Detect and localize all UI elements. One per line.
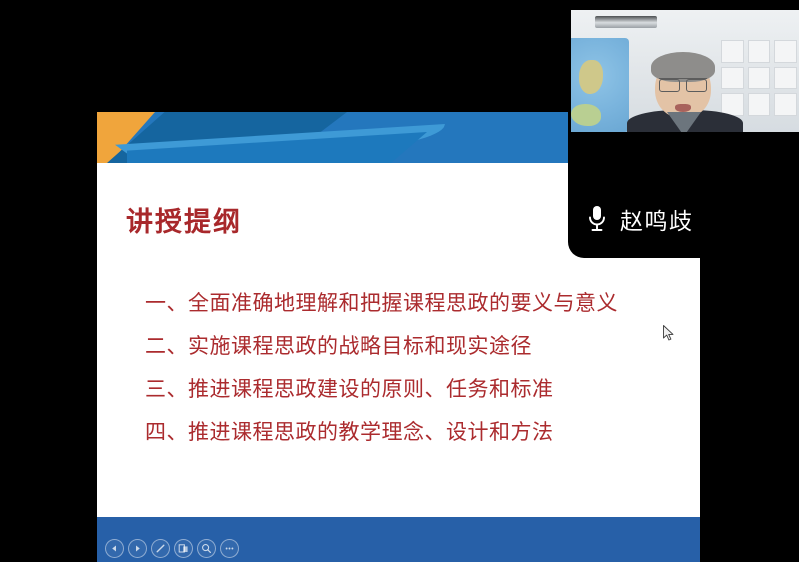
- slide-footer-bar: [97, 517, 700, 562]
- picture-frame: [748, 40, 771, 63]
- outline-item: 二、实施课程思政的战略目标和现实途径: [145, 325, 685, 368]
- person-mouth: [675, 104, 691, 112]
- chevron-left-icon: [110, 544, 119, 553]
- picture-frame: [774, 67, 797, 90]
- pen-icon: [155, 543, 166, 554]
- screen-share-view: 上1896 上 SHANGHAI 讲授提纲 一、全面准确地理解和把握课程思政的要…: [0, 0, 799, 562]
- slides-icon: [178, 543, 189, 554]
- outline-item: 四、推进课程思政的教学理念、设计和方法: [145, 411, 685, 454]
- picture-frame: [748, 93, 771, 116]
- outline-item: 三、推进课程思政建设的原则、任务和标准: [145, 368, 685, 411]
- participant-video-feed: [571, 10, 799, 132]
- picture-frame: [721, 40, 744, 63]
- person-glasses: [659, 78, 707, 90]
- air-conditioner: [595, 16, 657, 28]
- slide-title: 讲授提纲: [126, 200, 242, 239]
- lens-left: [659, 79, 680, 92]
- magnifier-icon: [201, 543, 212, 554]
- picture-frame: [774, 40, 797, 63]
- picture-frame: [748, 67, 771, 90]
- lens-right: [686, 79, 707, 92]
- slide-outline-list: 一、全面准确地理解和把握课程思政的要义与意义 二、实施课程思政的战略目标和现实途…: [145, 282, 685, 454]
- participant-name: 赵鸣歧: [620, 202, 694, 236]
- framed-pictures-grid: [721, 40, 797, 116]
- ellipsis-icon: [224, 543, 235, 554]
- more-options-button[interactable]: [220, 539, 239, 558]
- microphone-icon[interactable]: [586, 204, 608, 234]
- chevron-right-icon: [133, 544, 142, 553]
- picture-frame: [721, 67, 744, 90]
- world-map-poster: [571, 38, 629, 132]
- slide-toolbar: [105, 539, 239, 558]
- picture-frame: [774, 93, 797, 116]
- next-slide-button[interactable]: [128, 539, 147, 558]
- participant-name-bar: 赵鸣歧: [586, 202, 694, 236]
- zoom-button[interactable]: [197, 539, 216, 558]
- arrow-cursor-icon: [663, 325, 675, 342]
- participant-video-panel[interactable]: 赵鸣歧: [568, 0, 799, 258]
- outline-item: 一、全面准确地理解和把握课程思政的要义与意义: [145, 282, 685, 325]
- annotate-button[interactable]: [151, 539, 170, 558]
- slide-thumbnails-button[interactable]: [174, 539, 193, 558]
- previous-slide-button[interactable]: [105, 539, 124, 558]
